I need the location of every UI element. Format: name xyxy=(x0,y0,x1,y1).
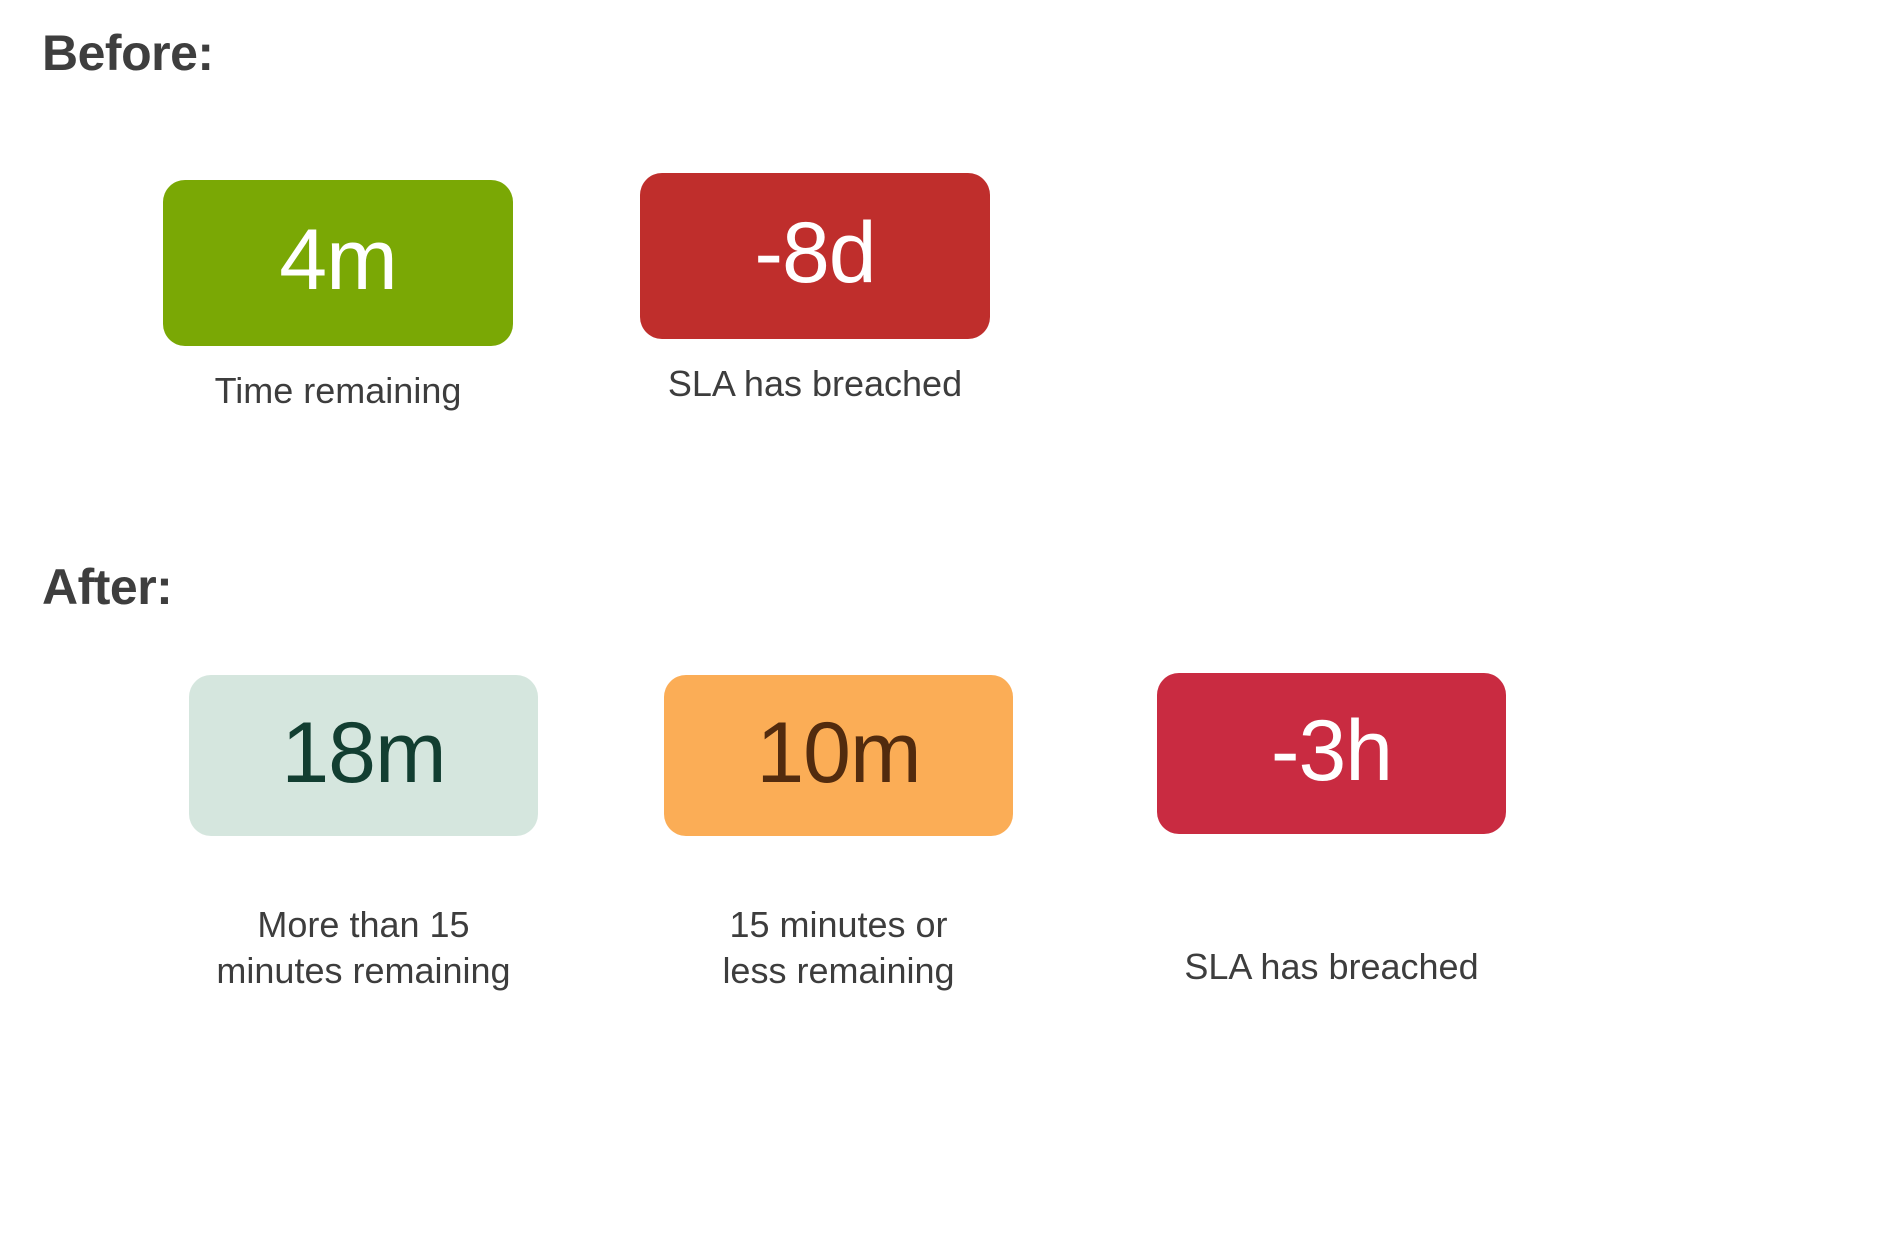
sla-badge-before-ok[interactable]: 4m xyxy=(163,180,513,346)
after-badge-group-ok: 18m More than 15 minutes remaining xyxy=(189,675,538,994)
sla-badge-value: 10m xyxy=(756,710,920,796)
sla-badge-before-breached[interactable]: -8d xyxy=(640,173,990,339)
before-section-heading: Before: xyxy=(42,28,214,78)
after-badge-group-warning: 10m 15 minutes or less remaining xyxy=(664,675,1013,994)
sla-badge-caption: 15 minutes or less remaining xyxy=(722,902,954,994)
sla-badge-value: 18m xyxy=(281,710,445,796)
sla-badge-value: 4m xyxy=(279,217,396,303)
sla-badge-caption: More than 15 minutes remaining xyxy=(216,902,510,994)
sla-badge-value: -3h xyxy=(1271,708,1392,794)
before-badge-group-ok: 4m Time remaining xyxy=(163,180,513,414)
sla-badge-after-breached[interactable]: -3h xyxy=(1157,673,1506,834)
sla-badge-caption: SLA has breached xyxy=(1184,944,1478,990)
sla-badge-after-ok[interactable]: 18m xyxy=(189,675,538,836)
sla-badge-caption: SLA has breached xyxy=(668,361,962,407)
sla-badge-comparison-page: Before: 4m Time remaining -8d SLA has br… xyxy=(0,0,1880,1236)
after-badge-group-breached: -3h SLA has breached xyxy=(1157,673,1506,990)
sla-badge-value: -8d xyxy=(754,210,875,296)
sla-badge-caption: Time remaining xyxy=(215,368,462,414)
before-badge-group-breached: -8d SLA has breached xyxy=(640,173,990,407)
after-section-heading: After: xyxy=(42,562,172,612)
sla-badge-after-warning[interactable]: 10m xyxy=(664,675,1013,836)
